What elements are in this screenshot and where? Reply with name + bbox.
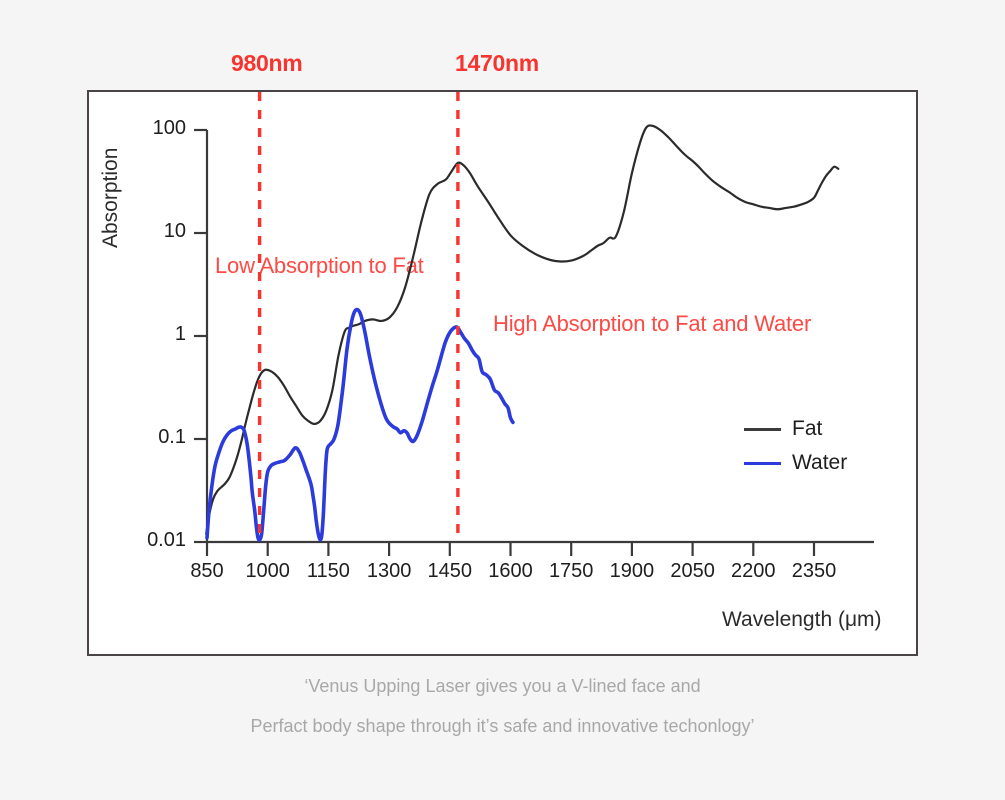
- y-tick-label: 0.01: [116, 529, 186, 552]
- markers-layer: [260, 92, 458, 542]
- y-tick-label: 0.1: [116, 426, 186, 449]
- legend-label-water: Water: [792, 451, 847, 475]
- x-tick-label: 2350: [774, 560, 854, 583]
- axes-layer: [194, 130, 874, 556]
- legend: Fat Water: [744, 412, 847, 480]
- caption-line-1: ‘Venus Upping Laser gives you a V-lined …: [0, 676, 1005, 697]
- y-tick-label: 100: [116, 117, 186, 140]
- chart-figure: 980nm 1470nm Absorption Wavelength (μm) …: [0, 0, 1005, 800]
- y-tick-label: 1: [116, 323, 186, 346]
- legend-item-water: Water: [744, 446, 847, 480]
- legend-swatch-fat: [744, 428, 781, 431]
- legend-label-fat: Fat: [792, 417, 822, 441]
- caption-line-2: Perfact body shape through it’s safe and…: [0, 716, 1005, 737]
- legend-swatch-water: [744, 462, 781, 465]
- legend-item-fat: Fat: [744, 412, 847, 446]
- series-line-water: [207, 310, 513, 541]
- y-tick-label: 10: [116, 220, 186, 243]
